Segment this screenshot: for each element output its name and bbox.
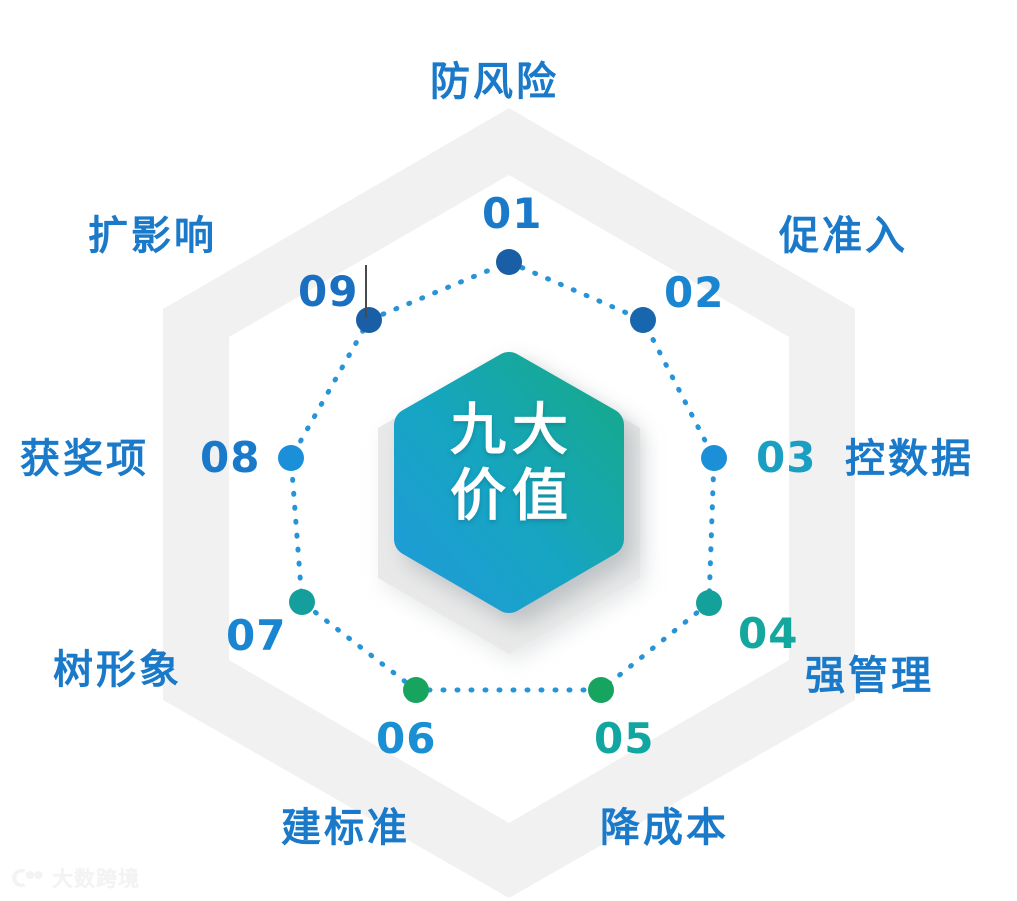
core-hexagon [411,369,607,596]
label-06-number: 06 [376,718,436,760]
watermark-text: 大数跨境 [52,863,140,893]
node-dot-03 [701,445,727,471]
node-dot-09 [356,307,382,333]
node-dot-04 [696,590,722,616]
dsk-logo-icon [10,866,44,890]
label-05-number: 05 [594,718,654,760]
node-dot-06 [403,677,429,703]
node-dot-02 [630,307,656,333]
label-03-number: 03 [756,437,816,479]
label-07-text: 树形象 [53,650,182,690]
label-05-text: 降成本 [600,808,729,848]
label-09-text: 扩影响 [88,216,217,256]
node-dot-01 [496,249,522,275]
label-02-text: 促准入 [779,216,908,256]
label-07-number: 07 [226,615,286,657]
watermark: 大数跨境 [10,863,140,893]
label-06-text: 建标准 [281,808,410,848]
infographic-canvas: 九大 价值 防风险 01 促准入 02 03 控数据 04 强管理 05 降成本… [0,0,1017,901]
label-04-number: 04 [738,613,798,655]
node-dot-08 [278,445,304,471]
label-09-number: 09 [298,271,358,313]
label-03-text: 控数据 [845,439,974,479]
label-08-number: 08 [200,437,260,479]
label-08-text: 获奖项 [20,439,149,479]
label-01-number: 01 [482,193,542,235]
label-01-text: 防风险 [430,62,559,102]
node-dot-07 [289,589,315,615]
node-dot-05 [588,677,614,703]
label-04-text: 强管理 [805,656,934,696]
label-02-number: 02 [664,272,724,314]
